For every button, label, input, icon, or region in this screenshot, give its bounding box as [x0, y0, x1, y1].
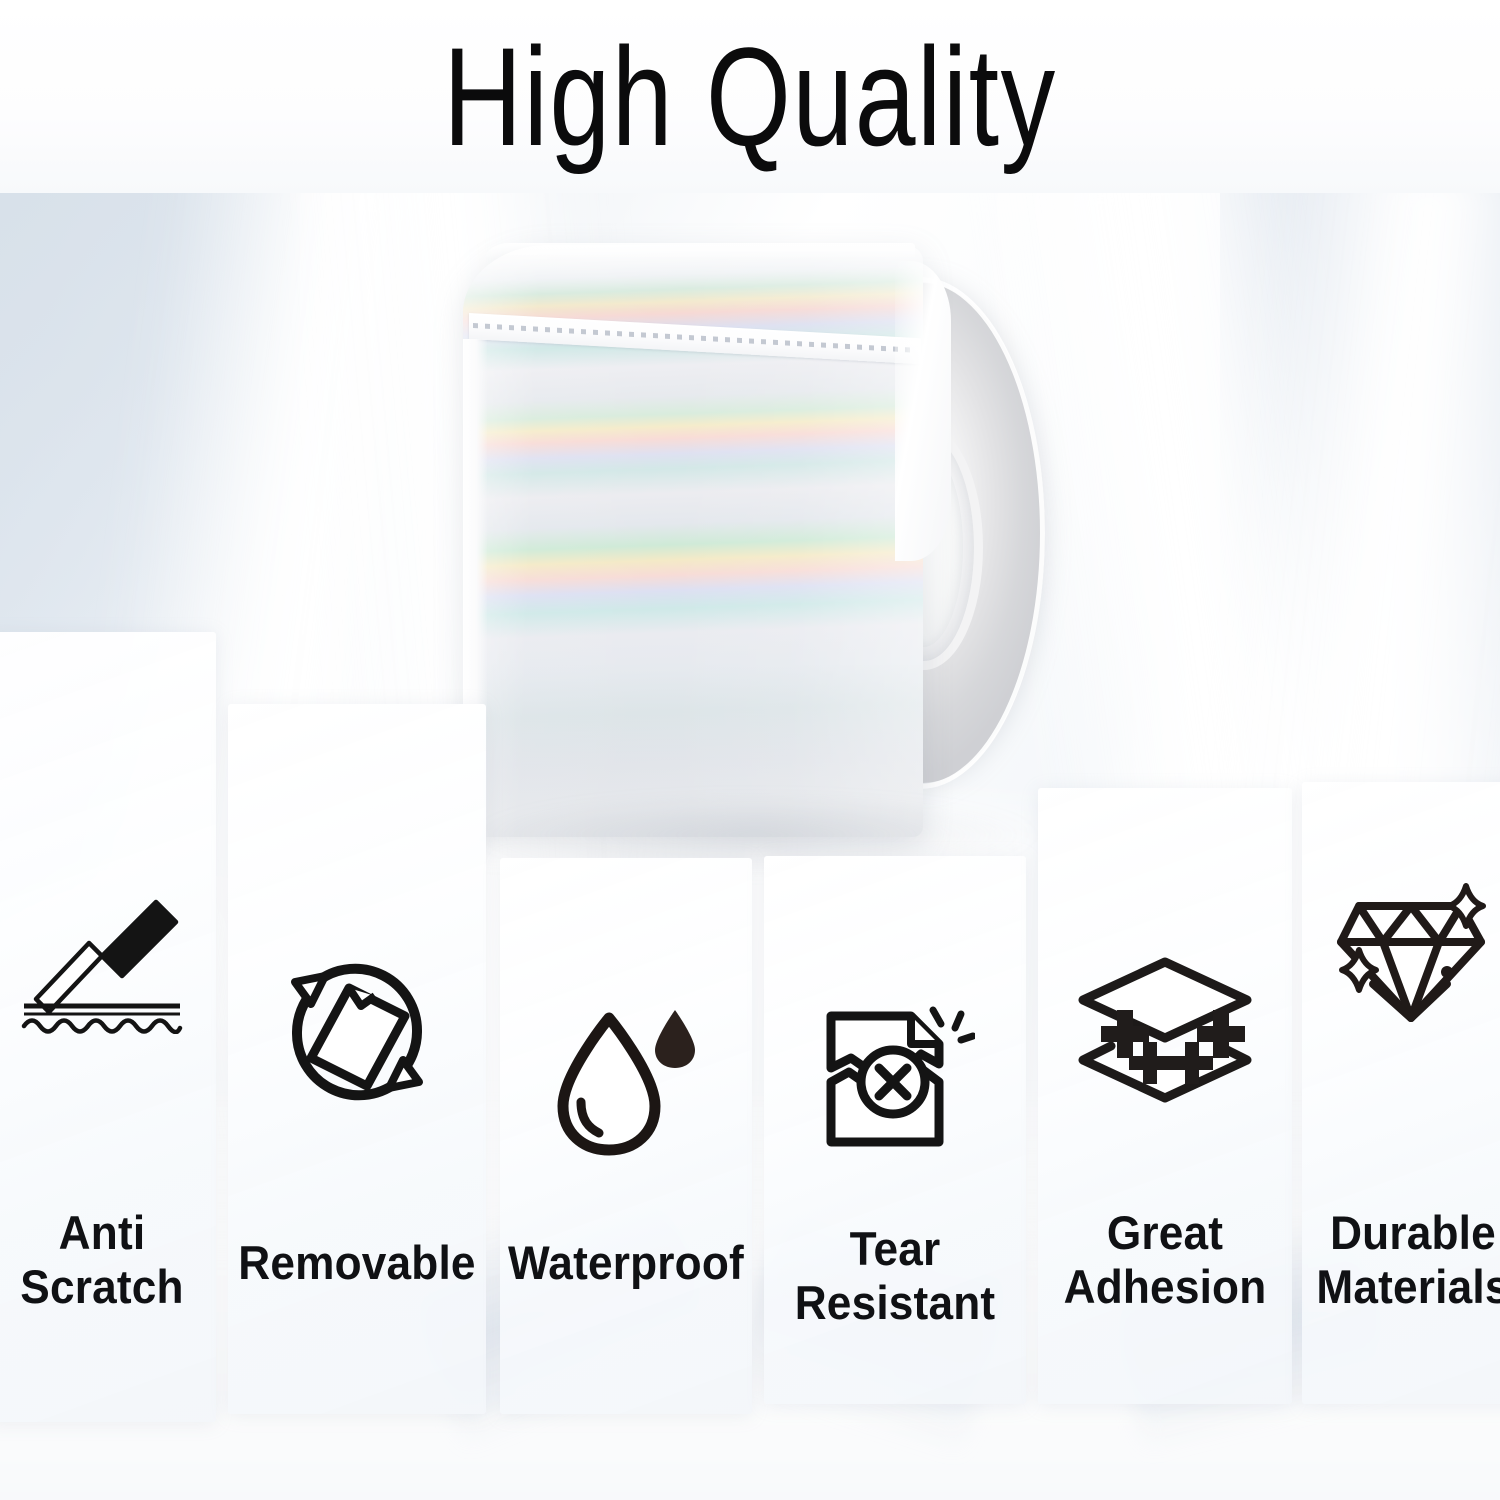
durable-materials-icon	[1329, 882, 1497, 1032]
feature-card-durable-materials[interactable]: Durable Materials	[1302, 782, 1500, 1404]
anti-scratch-icon	[16, 894, 188, 1034]
page-title: High Quality	[165, 22, 1335, 172]
feature-label-waterproof: Waterproof	[508, 1236, 745, 1290]
feature-card-anti-scratch[interactable]: Anti Scratch	[0, 632, 216, 1422]
feature-card-row: Anti Scratch	[0, 0, 1500, 1500]
product-feature-banner: High Quality	[0, 0, 1500, 1500]
feature-label-great-adhesion: Great Adhesion	[1046, 1206, 1285, 1314]
feature-label-removable: Removable	[236, 1236, 479, 1290]
waterproof-icon	[547, 1000, 705, 1160]
feature-label-tear-resistant: Tear Resistant	[772, 1222, 1018, 1330]
header-band: High Quality	[0, 0, 1500, 193]
feature-card-removable[interactable]: Removable	[228, 704, 486, 1414]
feature-card-waterproof[interactable]: Waterproof	[500, 858, 752, 1414]
feature-card-tear-resistant[interactable]: Tear Resistant	[764, 856, 1026, 1404]
feature-label-anti-scratch: Anti Scratch	[0, 1206, 209, 1314]
great-adhesion-icon	[1077, 956, 1253, 1104]
feature-label-durable-materials: Durable Materials	[1309, 1206, 1500, 1314]
removable-icon	[275, 954, 439, 1110]
feature-card-great-adhesion[interactable]: Great Adhesion	[1038, 788, 1292, 1404]
tear-resistant-icon	[815, 1002, 975, 1154]
